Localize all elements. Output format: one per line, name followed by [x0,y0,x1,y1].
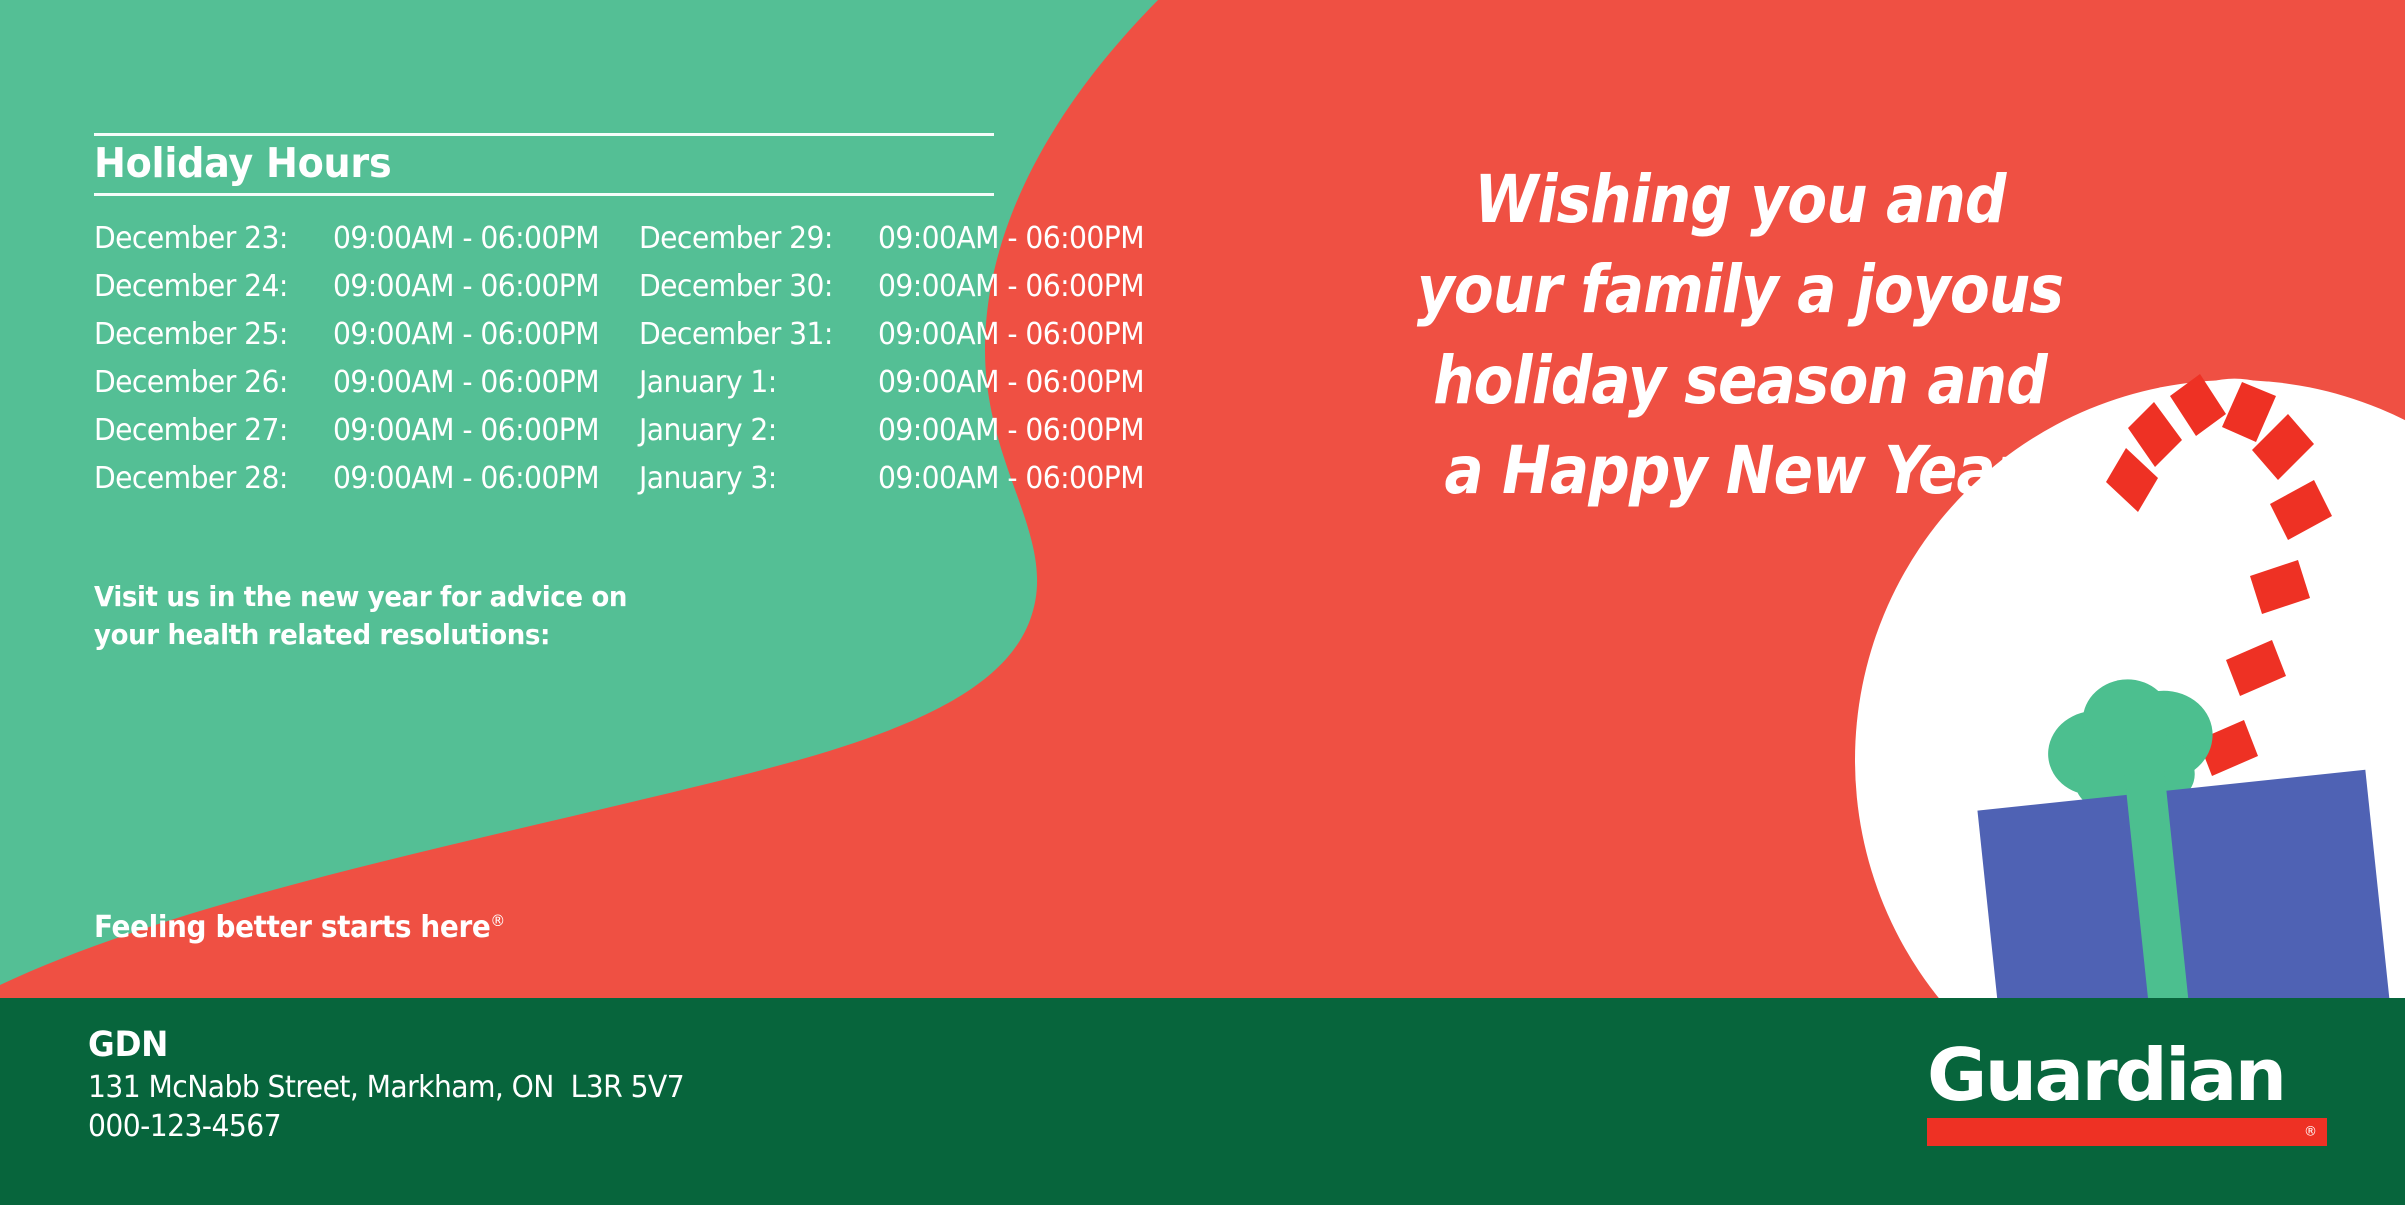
hours-column-right: December 29: 09:00AM - 06:00PM December … [639,221,1144,509]
hours-time: 09:00AM - 06:00PM [871,461,1144,496]
holiday-card: Holiday Hours December 23: 09:00AM - 06:… [0,0,2405,1205]
guardian-logo-bar: ® [1927,1118,2327,1146]
hours-day: December 29: [639,221,841,256]
hours-day: January 2: [639,413,841,448]
hours-row: January 1: 09:00AM - 06:00PM [639,365,1144,413]
hours-row: January 3: 09:00AM - 06:00PM [639,461,1144,509]
hours-row: December 26: 09:00AM - 06:00PM [94,365,599,413]
hours-row: December 30: 09:00AM - 06:00PM [639,269,1144,317]
greeting-message: Wishing you and your family a joyous hol… [1344,155,2136,517]
hours-time: 09:00AM - 06:00PM [326,269,599,304]
holiday-hours-block: Holiday Hours December 23: 09:00AM - 06:… [94,133,1524,509]
guardian-logo: Guardian ® [1927,1040,2327,1146]
hours-row: December 23: 09:00AM - 06:00PM [94,221,599,269]
hours-day: December 23: [94,221,296,256]
hours-day: December 31: [639,317,841,352]
hours-time: 09:00AM - 06:00PM [871,365,1144,400]
hours-time: 09:00AM - 06:00PM [326,461,599,496]
hours-row: December 29: 09:00AM - 06:00PM [639,221,1144,269]
guardian-wordmark: Guardian [1927,1040,2335,1111]
hours-time: 09:00AM - 06:00PM [871,221,1144,256]
hours-bottom-rule [94,193,994,196]
hours-row: December 27: 09:00AM - 06:00PM [94,413,599,461]
hours-day: January 3: [639,461,841,496]
hours-day: December 24: [94,269,296,304]
hours-columns: December 23: 09:00AM - 06:00PM December … [94,221,1524,509]
hours-day: December 25: [94,317,296,352]
hours-row: December 25: 09:00AM - 06:00PM [94,317,599,365]
hours-time: 09:00AM - 06:00PM [326,221,599,256]
hours-row: December 28: 09:00AM - 06:00PM [94,461,599,509]
hours-day: January 1: [639,365,841,400]
registered-mark-icon: ® [2304,1125,2317,1138]
footer: GDN 131 McNabb Street, Markham, ON L3R 5… [0,998,2405,1205]
hours-column-left: December 23: 09:00AM - 06:00PM December … [94,221,599,509]
hours-row: December 31: 09:00AM - 06:00PM [639,317,1144,365]
hours-time: 09:00AM - 06:00PM [871,317,1144,352]
hours-day: December 27: [94,413,296,448]
hours-row: January 2: 09:00AM - 06:00PM [639,413,1144,461]
store-address: 131 McNabb Street, Markham, ON L3R 5V7 [88,1068,684,1108]
hours-day: December 26: [94,365,296,400]
hours-time: 09:00AM - 06:00PM [871,269,1144,304]
registered-mark-icon: ® [490,911,505,930]
hours-row: December 24: 09:00AM - 06:00PM [94,269,599,317]
store-name: GDN [88,1024,678,1068]
store-info: GDN 131 McNabb Street, Markham, ON L3R 5… [88,1024,722,1147]
tagline-text: Feeling better starts here [94,910,490,945]
hours-title: Holiday Hours [94,136,1424,193]
store-phone: 000-123-4567 [88,1107,684,1147]
hours-day: December 30: [639,269,841,304]
hours-day: December 28: [94,461,296,496]
hours-time: 09:00AM - 06:00PM [326,365,599,400]
brand-tagline: Feeling better starts here® [94,910,505,945]
hours-time: 09:00AM - 06:00PM [326,413,599,448]
visit-note: Visit us in the new year for advice on y… [94,578,627,655]
hours-time: 09:00AM - 06:00PM [326,317,599,352]
hours-time: 09:00AM - 06:00PM [871,413,1144,448]
